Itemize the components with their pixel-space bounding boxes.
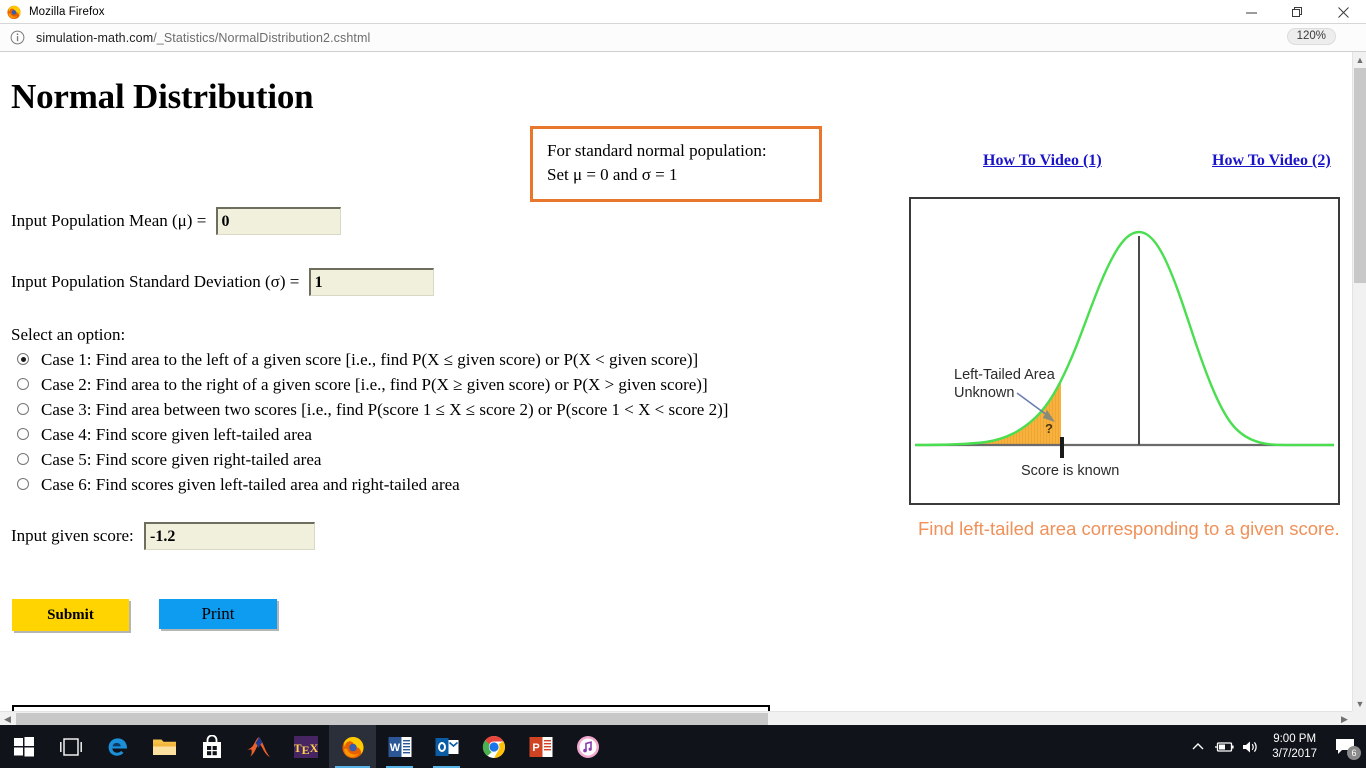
show-hidden-icons-chevron-icon[interactable] [1185,725,1211,768]
taskbar-item-file-explorer[interactable] [141,725,188,768]
window-controls [1228,0,1366,24]
print-button[interactable]: Print [159,599,277,629]
edge-icon [106,735,130,759]
radio-case-5[interactable] [17,453,29,465]
scroll-down-arrow-icon[interactable]: ▼ [1353,696,1366,711]
select-option-label: Select an option: [11,325,125,345]
sd-field-row: Input Population Standard Deviation (σ) … [11,268,434,296]
site-info-icon[interactable] [10,30,25,45]
note-line-2: Set μ = 0 and σ = 1 [547,163,819,187]
callout-label-line-1: Left-Tailed Area [954,367,1056,383]
word-icon: W [388,735,412,759]
option-row-case-3[interactable]: Case 3: Find area between two scores [i.… [11,398,728,423]
callout-label-line-2: Unknown [954,385,1014,401]
sd-input[interactable]: 1 [309,268,434,296]
system-tray: 9:00 PM 3/7/2017 6 [1185,725,1366,768]
taskbar-item-latex[interactable]: TEX [282,725,329,768]
taskbar-item-edge[interactable] [94,725,141,768]
windows-start-icon [14,737,34,757]
mean-field-row: Input Population Mean (μ) = 0 [11,207,341,235]
notification-center-button[interactable]: 6 [1326,725,1366,768]
taskbar-item-outlook[interactable] [423,725,470,768]
zoom-level-badge[interactable]: 120% [1287,28,1336,45]
taskbar-item-start[interactable] [0,725,47,768]
case-options-group: Case 1: Find area to the left of a given… [11,348,728,498]
option-row-case-6[interactable]: Case 6: Find scores given left-tailed ar… [11,473,728,498]
vertical-scrollbar[interactable]: ▲ ▼ [1352,52,1366,711]
taskbar-item-powerpoint[interactable]: P [517,725,564,768]
battery-icon[interactable] [1211,725,1237,768]
page-viewport: Normal Distribution For standard normal … [0,52,1352,711]
scrollbar-corner [1352,711,1366,725]
close-button[interactable] [1320,0,1366,24]
option-row-case-1[interactable]: Case 1: Find area to the left of a given… [11,348,728,373]
taskbar-item-chrome[interactable] [470,725,517,768]
svg-text:W: W [389,742,400,754]
option-row-case-2[interactable]: Case 2: Find area to the right of a give… [11,373,728,398]
taskbar-item-task-view[interactable] [47,725,94,768]
option-label-case-1: Case 1: Find area to the left of a given… [41,348,698,372]
scroll-right-arrow-icon[interactable]: ▶ [1337,712,1352,726]
option-label-case-5: Case 5: Find score given right-tailed ar… [41,448,321,472]
score-input[interactable]: -1.2 [144,522,315,550]
score-label: Input given score: [11,526,134,546]
store-icon [201,735,223,759]
radio-case-2[interactable] [17,378,29,390]
powerpoint-icon: P [529,735,553,759]
how-to-video-link-2[interactable]: How To Video (2) [1212,152,1331,170]
area-question-mark: ? [1045,421,1053,436]
restore-button[interactable] [1274,0,1320,24]
chrome-icon [482,735,506,759]
svg-text:TEX: TEX [294,741,318,757]
taskbar-item-store[interactable] [188,725,235,768]
normal-curve-svg: Left-Tailed Area Unknown ? Score is know… [911,199,1338,503]
taskbar-item-firefox[interactable] [329,725,376,768]
mean-input[interactable]: 0 [216,207,341,235]
horizontal-scrollbar-thumb[interactable] [16,713,768,725]
radio-case-4[interactable] [17,428,29,440]
notification-count-badge: 6 [1347,746,1361,760]
radio-case-1[interactable] [17,353,29,365]
option-label-case-3: Case 3: Find area between two scores [i.… [41,398,728,422]
taskbar-item-word[interactable]: W [376,725,423,768]
horizontal-scrollbar[interactable]: ◀ ▶ [0,711,1352,725]
score-field-row: Input given score: -1.2 [11,522,315,550]
submit-button[interactable]: Submit [12,599,129,631]
page-title: Normal Distribution [11,77,313,117]
note-line-1: For standard normal population: [547,139,819,163]
firefox-logo-icon [6,4,22,20]
how-to-video-link-1[interactable]: How To Video (1) [983,152,1102,170]
firefox-taskbar-icon [340,734,366,760]
itunes-icon [576,735,600,759]
browser-window: Mozilla Firefox [0,0,1366,725]
file-explorer-icon [152,736,177,757]
svg-text:P: P [532,742,539,754]
url-path: /_Statistics/NormalDistribution2.cshtml [153,31,370,45]
volume-icon[interactable] [1237,725,1263,768]
outlook-icon [435,736,459,758]
clock-time: 9:00 PM [1273,732,1316,747]
vertical-scrollbar-thumb[interactable] [1354,68,1366,283]
mean-label: Input Population Mean (μ) = [11,211,206,231]
radio-case-3[interactable] [17,403,29,415]
address-bar[interactable]: simulation-math.com/_Statistics/NormalDi… [0,24,1366,52]
title-bar: Mozilla Firefox [0,0,1366,24]
normal-curve-figure: Left-Tailed Area Unknown ? Score is know… [909,197,1340,505]
option-label-case-2: Case 2: Find area to the right of a give… [41,373,708,397]
url-text[interactable]: simulation-math.com/_Statistics/NormalDi… [36,31,370,45]
sd-label: Input Population Standard Deviation (σ) … [11,272,299,292]
radio-case-6[interactable] [17,478,29,490]
option-row-case-4[interactable]: Case 4: Find score given left-tailed are… [11,423,728,448]
taskbar-item-matlab[interactable] [235,725,282,768]
clock-date: 3/7/2017 [1272,747,1317,762]
score-is-known-label: Score is known [1021,463,1119,479]
standard-normal-note-box: For standard normal population: Set μ = … [530,126,822,202]
taskbar-item-itunes[interactable] [564,725,611,768]
windows-taskbar: TEX W [0,725,1366,768]
window-title: Mozilla Firefox [29,6,105,18]
url-domain: simulation-math.com [36,31,153,45]
option-label-case-6: Case 6: Find scores given left-tailed ar… [41,473,460,497]
scroll-left-arrow-icon[interactable]: ◀ [0,712,15,726]
task-view-icon [60,738,82,756]
chart-caption: Find left-tailed area corresponding to a… [918,515,1348,543]
normal-curve-path [915,232,1334,445]
option-label-case-4: Case 4: Find score given left-tailed are… [41,423,312,447]
scroll-up-arrow-icon[interactable]: ▲ [1353,52,1366,67]
matlab-icon [246,736,272,758]
taskbar-clock[interactable]: 9:00 PM 3/7/2017 [1263,725,1326,768]
option-row-case-5[interactable]: Case 5: Find score given right-tailed ar… [11,448,728,473]
minimize-button[interactable] [1228,0,1274,24]
latex-icon: TEX [294,736,318,758]
